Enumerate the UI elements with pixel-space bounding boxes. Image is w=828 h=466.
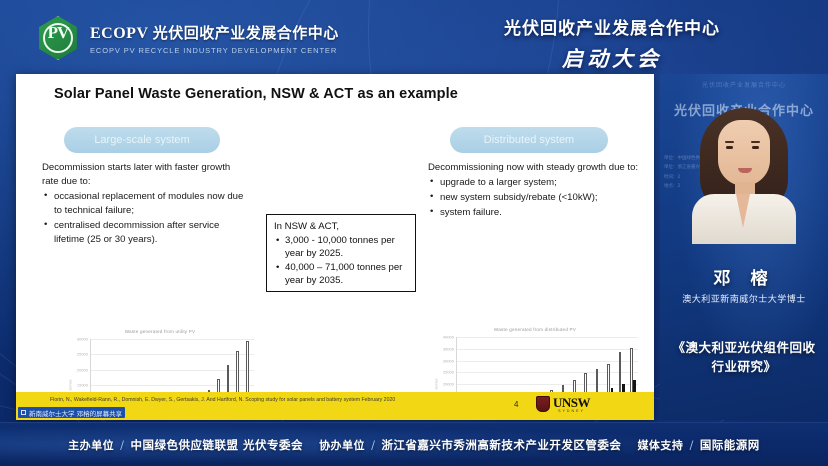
bottom-item-value: 中国绿色供应链联盟 光伏专委会 <box>131 437 304 453</box>
brand-title-cn: 光伏回收产业发展合作中心 <box>153 24 339 42</box>
citation-date: February 2020 <box>361 397 395 403</box>
presenter-panel[interactable]: 光伏回收产业发展合作中心 光伏回收产业合作中心 启动大会 单位：中国绿色供应链 … <box>660 74 828 420</box>
event-title-line2: 启动大会 <box>462 43 762 73</box>
talk-title: 《澳大利亚光伏组件回收行业研究》 <box>668 338 820 377</box>
list-item: new system subsidy/rebate (<10kW); <box>440 191 654 205</box>
bottom-separator: / <box>371 438 375 452</box>
callout-bullet-list: 3,000 - 10,000 tonnes per year by 2025. … <box>274 235 408 288</box>
bottom-item-key: 媒体支持 <box>637 437 683 453</box>
list-item: system failure. <box>440 206 654 220</box>
right-intro: Decommissioning now with steady growth d… <box>428 161 654 175</box>
y-axis-tick: 35000 <box>443 346 454 351</box>
pill-distributed-system: Distributed system <box>450 127 608 153</box>
callout-box: In NSW & ACT, 3,000 - 10,000 tonnes per … <box>266 214 416 292</box>
page-number: 4 <box>514 400 518 409</box>
presenter-affiliation: 澳大利亚新南威尔士大学博士 <box>660 292 828 305</box>
y-axis-tick: 40000 <box>443 335 454 340</box>
event-title-line1: 光伏回收产业发展合作中心 <box>462 14 762 39</box>
header: PV ECOPV 光伏回收产业发展合作中心 ECOPV PV RECYCLE I… <box>0 0 828 72</box>
presenter-avatar <box>688 102 800 244</box>
bottom-separator: / <box>689 438 693 452</box>
slide-title: Solar Panel Waste Generation, NSW & ACT … <box>54 86 458 102</box>
right-column-text: Decommissioning now with steady growth d… <box>428 161 654 220</box>
unsw-word: UNSW <box>553 395 590 410</box>
unsw-logo: UNSW SYDNEY <box>536 395 590 413</box>
ecopv-logo-icon: PV <box>36 16 80 60</box>
list-item: centralised decommission after service l… <box>54 219 247 247</box>
list-item: upgrade to a larger system; <box>440 176 654 190</box>
citation-text: Florin, N., Wakefield-Rann, R., Domnish,… <box>50 397 360 403</box>
brand-subtitle: ECOPV PV RECYCLE INDUSTRY DEVELOPMENT CE… <box>90 46 339 55</box>
brand-logo: PV ECOPV 光伏回收产业发展合作中心 ECOPV PV RECYCLE I… <box>36 16 339 60</box>
bottom-item-key: 主办单位 <box>68 437 114 453</box>
chart-title: Waste generated from distributed PV <box>426 327 644 332</box>
bottom-item-media: 媒体支持 / 国际能源网 <box>637 437 759 453</box>
right-bullet-list: upgrade to a larger system; new system s… <box>428 176 654 220</box>
unsw-wordmark: UNSW SYDNEY <box>553 395 590 413</box>
chart-title: Waste generated from utility PV <box>60 329 260 334</box>
event-title: 光伏回收产业发展合作中心 启动大会 <box>462 14 762 73</box>
bottom-separator: / <box>120 438 124 452</box>
bottom-item-value: 浙江省嘉兴市秀洲高新技术产业开发区管委会 <box>381 437 621 453</box>
bottom-item-key: 协办单位 <box>319 437 365 453</box>
list-item: 40,000 – 71,000 tonnes per year by 2035. <box>285 262 408 288</box>
share-dot-icon <box>21 410 26 415</box>
list-item: 3,000 - 10,000 tonnes per year by 2025. <box>285 235 408 261</box>
bottom-item-organizer: 主办单位 / 中国绿色供应链联盟 光伏专委会 <box>68 437 303 453</box>
left-intro: Decommission starts later with faster gr… <box>42 161 247 189</box>
y-axis-label: tonnes <box>434 379 438 390</box>
brand-title-en: ECOPV <box>90 25 148 42</box>
bottom-item-value: 国际能源网 <box>700 437 760 453</box>
panel-watermark: 光伏回收产业发展合作中心 <box>664 80 824 89</box>
share-tag-label: 新南威尔士大学 邓榕的屏幕共享 <box>29 408 122 418</box>
y-axis-tick: 15000 <box>77 383 88 388</box>
left-bullet-list: occasional replacement of modules now du… <box>42 190 247 247</box>
bottom-banner: 主办单位 / 中国绿色供应链联盟 光伏专委会 协办单位 / 浙江省嘉兴市秀洲高新… <box>0 422 828 466</box>
brand-title: ECOPV 光伏回收产业发展合作中心 <box>90 22 339 43</box>
unsw-crest-icon <box>536 396 550 412</box>
y-axis-tick: 30000 <box>443 358 454 363</box>
y-axis-label: tonnes <box>68 380 72 391</box>
presentation-slide[interactable]: Solar Panel Waste Generation, NSW & ACT … <box>16 74 654 420</box>
y-axis-tick: 25000 <box>443 370 454 375</box>
pill-large-scale-system: Large-scale system <box>64 127 220 153</box>
y-axis-tick: 20000 <box>443 382 454 387</box>
y-axis-tick: 25000 <box>77 352 88 357</box>
y-axis-tick: 30000 <box>77 337 88 342</box>
presenter-name: 邓 榕 <box>660 264 828 289</box>
presenter-video[interactable] <box>688 102 800 244</box>
citation: Florin, N., Wakefield-Rann, R., Domnish,… <box>50 396 470 405</box>
list-item: occasional replacement of modules now du… <box>54 190 247 218</box>
left-column-text: Decommission starts later with faster gr… <box>42 161 247 246</box>
callout-title: In NSW & ACT, <box>274 221 408 234</box>
bottom-item-coorganizer: 协办单位 / 浙江省嘉兴市秀洲高新技术产业开发区管委会 <box>319 437 621 453</box>
screen-share-indicator: 新南威尔士大学 邓榕的屏幕共享 <box>18 407 125 418</box>
unsw-word-sub: SYDNEY <box>553 409 590 413</box>
y-axis-tick: 20000 <box>77 367 88 372</box>
